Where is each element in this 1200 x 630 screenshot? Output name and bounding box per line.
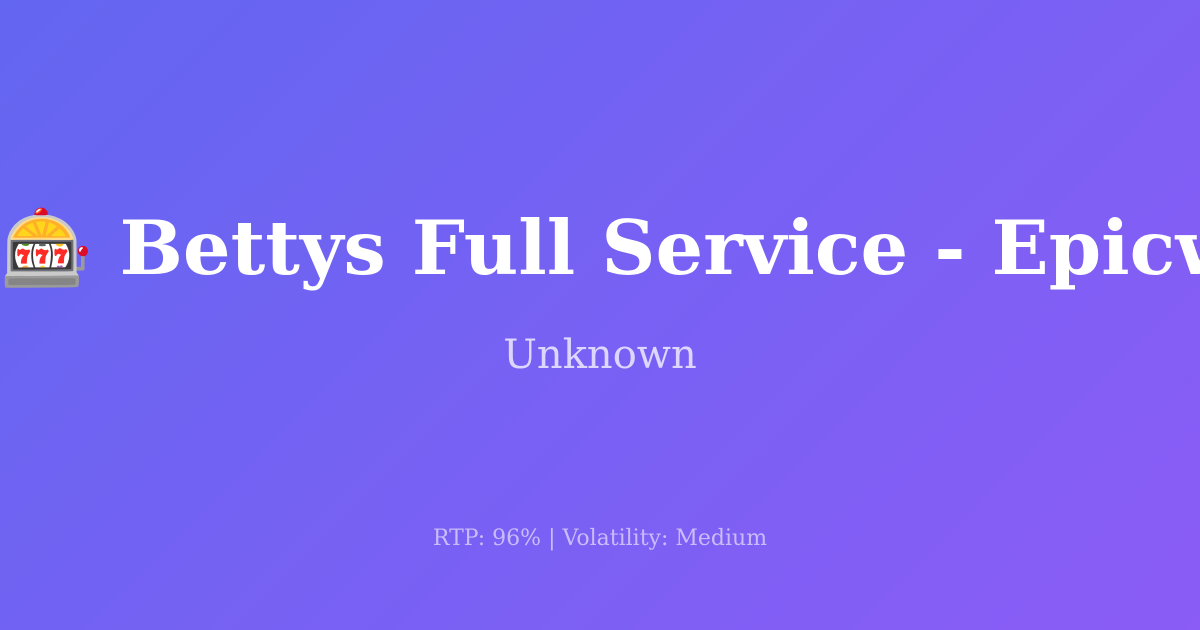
og-share-card: 🎰 Bettys Full Service - Epicways Unknown…	[0, 0, 1200, 630]
game-provider-subtitle: Unknown	[503, 331, 697, 379]
page-title: 🎰 Bettys Full Service - Epicways	[0, 208, 1200, 289]
hero-content: 🎰 Bettys Full Service - Epicways Unknown	[0, 0, 1200, 630]
